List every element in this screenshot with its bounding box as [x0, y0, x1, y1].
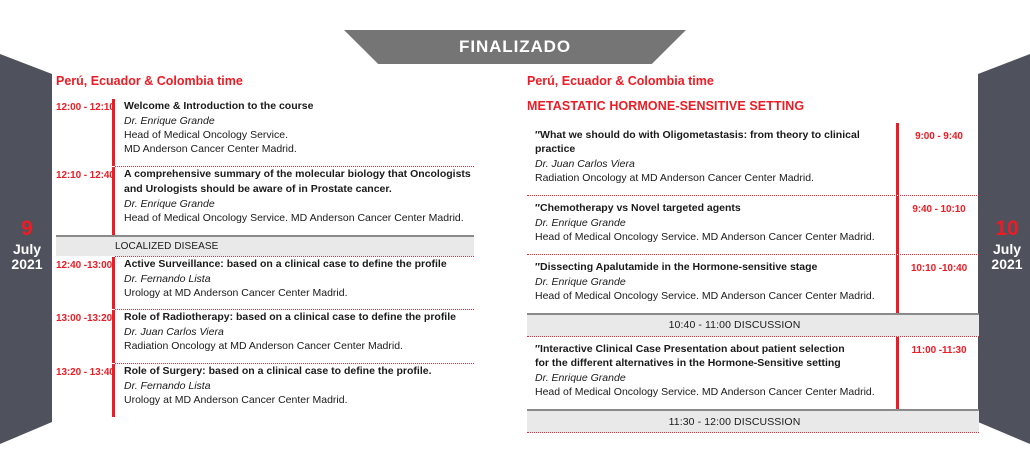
- session-affiliation: Head of Medical Oncology Service. MD And…: [124, 212, 474, 226]
- session-speaker: Dr. Fernando Lista: [124, 380, 474, 394]
- date-month-right: July: [984, 242, 1030, 257]
- session-time: 12:40 -13:00: [56, 257, 112, 310]
- session-title: A comprehensive summary of the molecular…: [124, 168, 474, 182]
- session-body: ″What we should do with Oligometastasis:…: [527, 123, 896, 195]
- session-row[interactable]: ″Interactive Clinical Case Presentation …: [527, 337, 979, 410]
- agenda-column-day10: Perú, Ecuador & Colombia time METASTATIC…: [527, 74, 979, 433]
- session-title: Welcome & Introduction to the course: [124, 100, 474, 114]
- session-speaker: Dr. Enrique Grande: [535, 276, 884, 290]
- discussion-band: 10:40 - 11:00 DISCUSSION: [527, 313, 979, 336]
- agenda-page: { "ribbon": { "label": "FINALIZADO", "co…: [0, 0, 1030, 450]
- discussion-band-label: 10:40 - 11:00 DISCUSSION: [527, 319, 979, 331]
- session-time: 12:10 - 12:40: [56, 167, 112, 235]
- session-affiliation: Urology at MD Anderson Cancer Center Mad…: [124, 287, 474, 301]
- date-panel-left: 9 July 2021: [0, 50, 52, 448]
- session-body: ″Dissecting Apalutamide in the Hormone-s…: [527, 255, 896, 313]
- date-panel-right: 10 July 2021: [978, 50, 1030, 448]
- session-speaker: Dr. Enrique Grande: [535, 372, 884, 386]
- session-body: ″Chemotherapy vs Novel targeted agents D…: [527, 196, 896, 254]
- session-accent-bar: [112, 257, 115, 310]
- session-row[interactable]: ″Dissecting Apalutamide in the Hormone-s…: [527, 255, 979, 313]
- agenda-column-day9: Perú, Ecuador & Colombia time 12:00 - 12…: [56, 74, 474, 417]
- date-year-right: 2021: [984, 257, 1030, 272]
- session-row[interactable]: 13:20 - 13:40 Role of Surgery: based on …: [56, 364, 474, 417]
- session-body: Role of Radiotherapy: based on a clinica…: [124, 310, 474, 363]
- session-title: ″Dissecting Apalutamide in the Hormone-s…: [535, 261, 884, 275]
- session-title: ″Chemotherapy vs Novel targeted agents: [535, 202, 884, 216]
- session-affiliation: Radiation Oncology at MD Anderson Cancer…: [124, 340, 474, 354]
- date-panel-left-text: 9 July 2021: [2, 218, 52, 272]
- session-time: 13:00 -13:20: [56, 310, 112, 363]
- session-title: and Urologists should be aware of in Pro…: [124, 183, 474, 197]
- section-header-metastatic: METASTATIC HORMONE-SENSITIVE SETTING: [527, 99, 979, 113]
- session-row[interactable]: 12:10 - 12:40 A comprehensive summary of…: [56, 167, 474, 235]
- session-title: Active Surveillance: based on a clinical…: [124, 258, 474, 272]
- session-time: 12:00 - 12:10: [56, 99, 112, 166]
- session-speaker: Dr. Enrique Grande: [124, 115, 474, 129]
- date-year-left: 2021: [2, 257, 52, 272]
- date-day-left: 9: [2, 218, 52, 241]
- session-accent-bar: [112, 99, 115, 166]
- session-accent-bar: [112, 310, 115, 363]
- status-ribbon: FINALIZADO: [344, 30, 686, 64]
- date-month-left: July: [2, 242, 52, 257]
- session-affiliation: Head of Medical Oncology Service. MD And…: [535, 231, 884, 245]
- session-speaker: Dr. Fernando Lista: [124, 273, 474, 287]
- session-body: Active Surveillance: based on a clinical…: [124, 257, 474, 310]
- section-band-localized-disease: LOCALIZED DISEASE: [56, 235, 474, 256]
- ribbon-shape: FINALIZADO: [344, 30, 686, 64]
- session-title: ″What we should do with Oligometastasis:…: [535, 129, 884, 157]
- session-row[interactable]: 13:00 -13:20 Role of Radiotherapy: based…: [56, 310, 474, 363]
- session-accent-bar: [112, 364, 115, 417]
- session-speaker: Dr. Enrique Grande: [124, 198, 474, 212]
- session-time: 9:00 - 9:40: [899, 123, 979, 195]
- session-title: ″Interactive Clinical Case Presentation …: [535, 343, 884, 357]
- session-row[interactable]: ″What we should do with Oligometastasis:…: [527, 123, 979, 195]
- session-body: A comprehensive summary of the molecular…: [124, 167, 474, 235]
- discussion-band: 11:30 - 12:00 DISCUSSION: [527, 409, 979, 432]
- session-title: Role of Radiotherapy: based on a clinica…: [124, 311, 474, 325]
- session-speaker: Dr. Juan Carlos Viera: [535, 158, 884, 172]
- date-panel-right-text: 10 July 2021: [984, 218, 1030, 272]
- session-divider: [527, 432, 979, 433]
- discussion-band-label: 11:30 - 12:00 DISCUSSION: [527, 416, 979, 428]
- session-time: 9:40 - 10:10: [899, 196, 979, 254]
- session-title: Role of Surgery: based on a clinical cas…: [124, 365, 474, 379]
- session-body: ″Interactive Clinical Case Presentation …: [527, 337, 896, 410]
- session-accent-bar: [112, 167, 115, 235]
- session-affiliation: Head of Medical Oncology Service.: [124, 129, 474, 143]
- timezone-label-left: Perú, Ecuador & Colombia time: [56, 74, 474, 88]
- session-body: Role of Surgery: based on a clinical cas…: [124, 364, 474, 417]
- section-band-label: LOCALIZED DISEASE: [56, 241, 218, 252]
- session-time: 11:00 -11:30: [899, 337, 979, 410]
- session-row[interactable]: ″Chemotherapy vs Novel targeted agents D…: [527, 196, 979, 254]
- timezone-label-right: Perú, Ecuador & Colombia time: [527, 74, 979, 88]
- session-title: for the different alternatives in the Ho…: [535, 357, 884, 371]
- session-affiliation: Head of Medical Oncology Service. MD And…: [535, 386, 884, 400]
- date-day-right: 10: [984, 218, 1030, 241]
- session-speaker: Dr. Enrique Grande: [535, 217, 884, 231]
- session-row[interactable]: 12:40 -13:00 Active Surveillance: based …: [56, 257, 474, 310]
- session-affiliation: Radiation Oncology at MD Anderson Cancer…: [535, 172, 884, 186]
- session-affiliation: Head of Medical Oncology Service. MD And…: [535, 290, 884, 304]
- session-time: 13:20 - 13:40: [56, 364, 112, 417]
- session-body: Welcome & Introduction to the course Dr.…: [124, 99, 474, 166]
- session-time: 10:10 -10:40: [899, 255, 979, 313]
- session-speaker: Dr. Juan Carlos Viera: [124, 326, 474, 340]
- session-affiliation: MD Anderson Cancer Center Madrid.: [124, 143, 474, 157]
- session-affiliation: Urology at MD Anderson Cancer Center Mad…: [124, 394, 474, 408]
- status-badge: FINALIZADO: [459, 37, 571, 57]
- session-row[interactable]: 12:00 - 12:10 Welcome & Introduction to …: [56, 99, 474, 166]
